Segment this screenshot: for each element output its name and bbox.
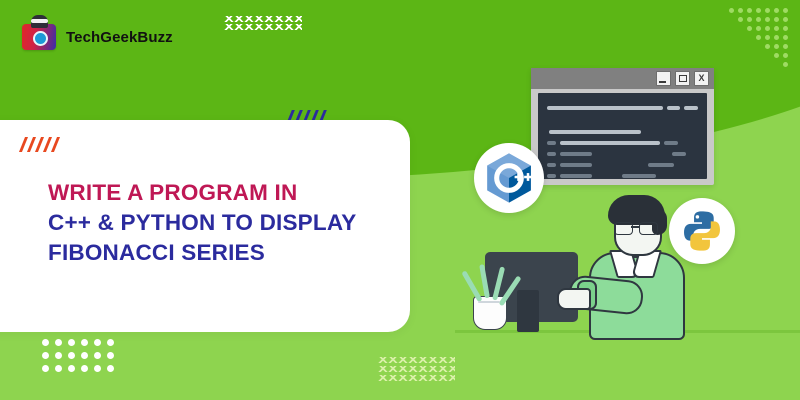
dot [55,365,62,372]
minimize-icon[interactable] [656,71,671,86]
banner-stage: TechGeekBuzz Write a Program in C++ & Py… [0,0,800,400]
dot [81,365,88,372]
person-hair [608,195,665,225]
dot-row [42,365,120,378]
dot [68,339,75,346]
dot-row [42,339,120,352]
monitor-stand [517,290,539,332]
potted-plant [473,296,507,330]
red-slashes-decoration [22,137,62,152]
bottom-left-dot-pattern [42,339,120,378]
dot [81,352,88,359]
code-area [538,93,707,179]
brand-header: TechGeekBuzz [22,24,173,50]
brand-name: TechGeekBuzz [66,29,173,46]
dot [55,352,62,359]
dot [94,352,101,359]
dot [107,339,114,346]
dot [55,339,62,346]
zigzag-top-middle [224,16,302,32]
code-editor-window: X [531,68,714,185]
maximize-icon[interactable] [675,71,690,86]
page-title: Write a Program in C++ & Python to Displ… [48,178,408,268]
dot [42,352,49,359]
dot [94,365,101,372]
illustration: X [455,0,800,400]
zigzag-bottom-center [378,357,460,384]
dot [68,365,75,372]
headline-line-2: C++ & Python to Display [48,208,408,238]
headline-line-1: Write a Program in [48,178,408,208]
dot [68,352,75,359]
camera-logo-icon [22,24,56,50]
glasses-icon [613,222,661,233]
dot [42,339,49,346]
person-hand [557,288,591,310]
cpp-hexagon-icon [481,150,537,206]
dot [107,352,114,359]
close-icon[interactable]: X [694,71,709,86]
window-titlebar: X [531,68,714,89]
python-logo-icon [669,198,735,264]
python-snakes-icon [679,208,725,254]
headline-line-3: Fibonacci Series [48,238,408,268]
dot [42,365,49,372]
dot [81,339,88,346]
dot [94,339,101,346]
desk-surface [455,333,800,400]
dot-row [42,352,120,365]
cpp-logo-icon [474,143,544,213]
dot [107,365,114,372]
